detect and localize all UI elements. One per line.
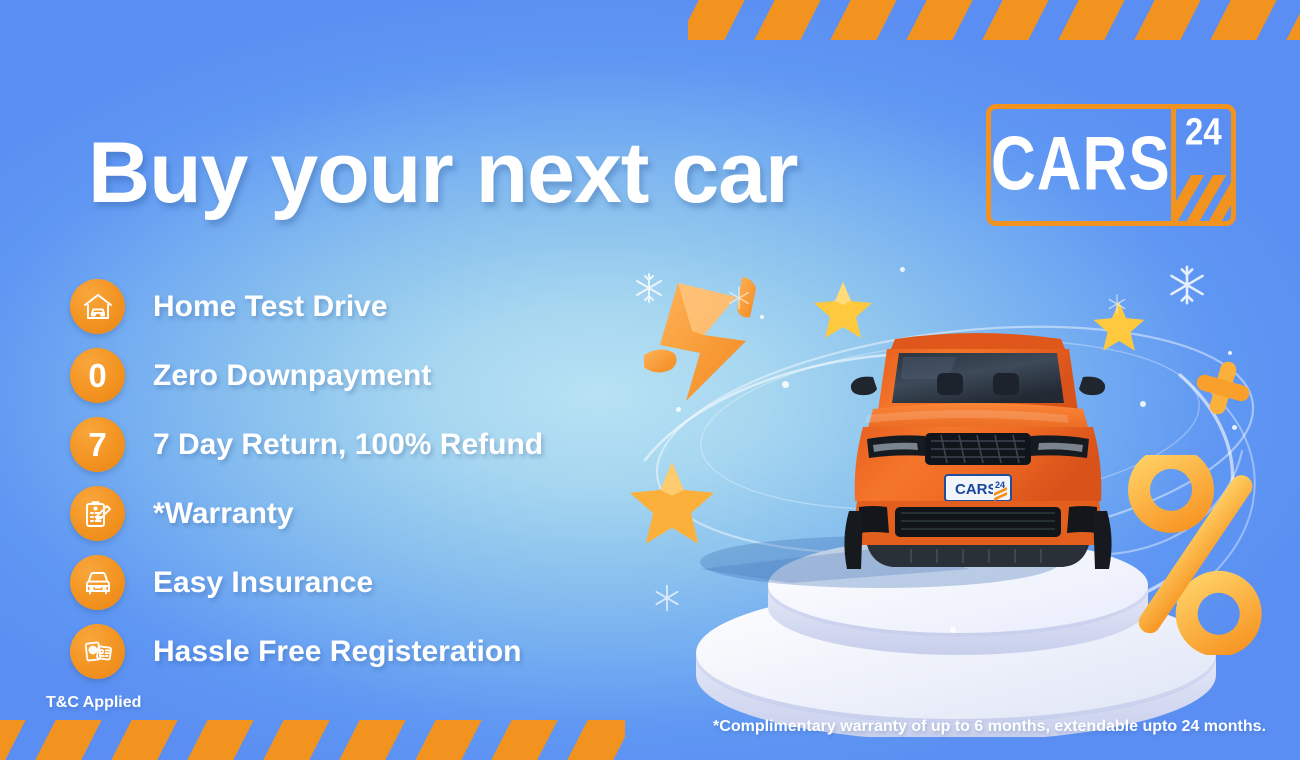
feature-label: 7 Day Return, 100% Refund (153, 428, 543, 462)
sparkle-dot (900, 267, 905, 272)
zero-number-icon: 0 (70, 348, 125, 403)
documents-icon (70, 624, 125, 679)
feature-item-seven-day-return: 7 7 Day Return, 100% Refund (70, 410, 543, 479)
stripe-band-bottom (0, 720, 625, 760)
star-icon (810, 277, 876, 343)
license-plate-number: 24 (995, 480, 1005, 490)
feature-item-home-test-drive: Home Test Drive (70, 272, 543, 341)
star-icon (624, 455, 720, 551)
sparkle-dot (782, 381, 789, 388)
snowflake-icon (726, 285, 752, 311)
home-car-icon (70, 279, 125, 334)
hero-illustration: CARS 24 (620, 255, 1300, 685)
logo-number: 24 (1185, 113, 1222, 151)
sparkle-dot (950, 627, 956, 633)
percent-sign-icon (1110, 455, 1280, 655)
disclaimer-text: *Complimentary warranty of up to 6 month… (713, 718, 1266, 736)
feature-item-easy-insurance: Easy Insurance (70, 548, 543, 617)
logo-hatch-stripes (1176, 175, 1231, 221)
feature-item-zero-downpayment: 0 Zero Downpayment (70, 341, 543, 410)
cars24-promo-banner: Buy your next car CARS 24 Home Test (0, 0, 1300, 760)
logo-wordmark: CARS (991, 127, 1171, 203)
feature-label: *Warranty (153, 497, 294, 531)
clipboard-pencil-icon (70, 486, 125, 541)
feature-item-warranty: *Warranty (70, 479, 543, 548)
page-title: Buy your next car (88, 130, 797, 216)
feature-label: Home Test Drive (153, 290, 388, 324)
terms-text: T&C Applied (46, 694, 141, 712)
snowflake-icon (632, 271, 666, 305)
feature-label: Zero Downpayment (153, 359, 431, 393)
badge-number: 7 (88, 428, 106, 461)
sparkle-dot (1228, 351, 1232, 355)
stripe-band-top (688, 0, 1300, 40)
car-front-icon (70, 555, 125, 610)
sparkle-dot (676, 407, 681, 412)
orange-suv: CARS 24 (833, 315, 1123, 590)
feature-item-hassle-free-registration: Hassle Free Registeration (70, 617, 543, 686)
cars24-logo: CARS 24 (986, 104, 1236, 226)
logo-wordmark-box: CARS (991, 109, 1171, 221)
sparkle-dot (1140, 401, 1146, 407)
plus-sign-icon (1190, 355, 1256, 421)
logo-number-box: 24 (1176, 109, 1231, 221)
feature-list: Home Test Drive 0 Zero Downpayment 7 7 D… (70, 272, 543, 686)
snowflake-icon (1165, 263, 1209, 307)
snowflake-icon (652, 583, 682, 613)
sparkle-dot (760, 315, 764, 319)
feature-label: Hassle Free Registeration (153, 635, 521, 669)
seven-number-icon: 7 (70, 417, 125, 472)
badge-number: 0 (88, 359, 106, 392)
feature-label: Easy Insurance (153, 566, 373, 600)
sparkle-dot (1232, 425, 1237, 430)
license-plate-brand: CARS (955, 481, 998, 498)
snowflake-icon (1106, 293, 1128, 315)
